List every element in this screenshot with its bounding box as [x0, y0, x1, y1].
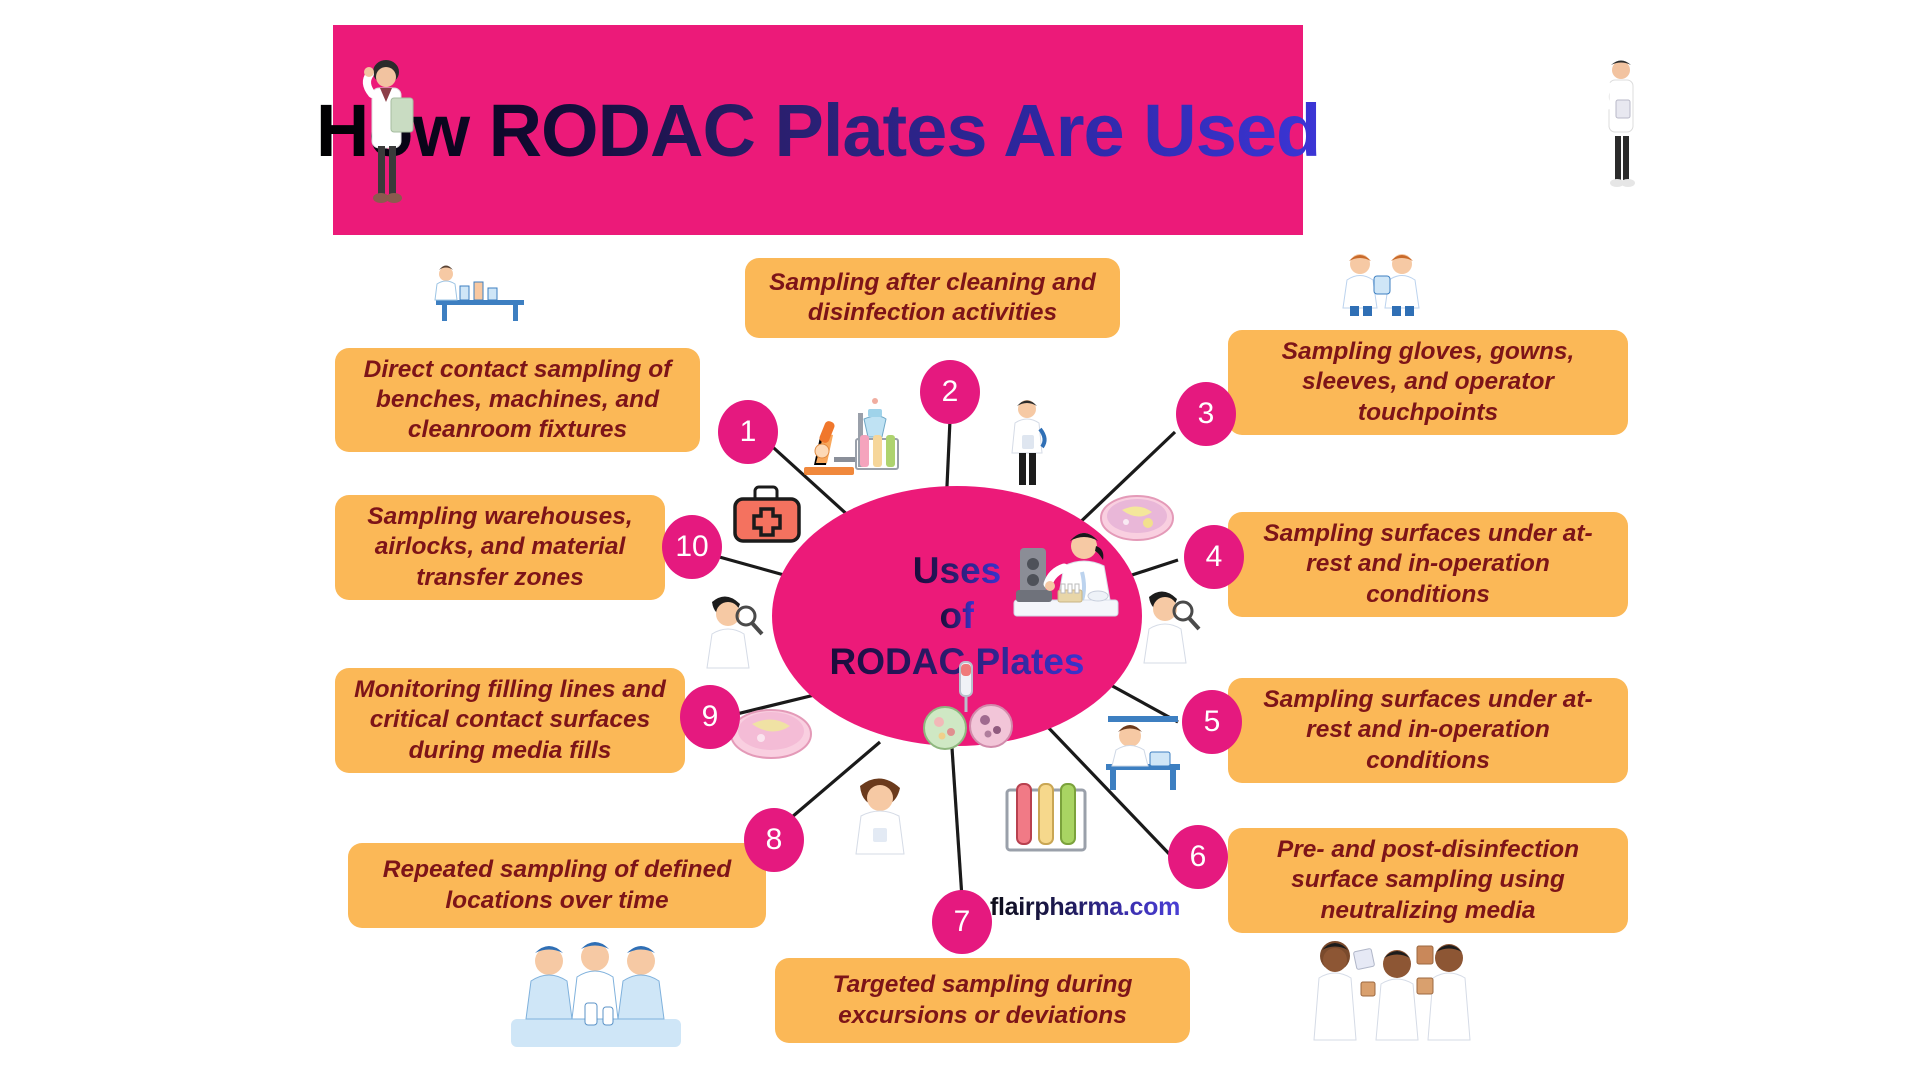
node-card-5[interactable]: Sampling surfaces under at-rest and in-o…	[1228, 678, 1628, 783]
node-card-6[interactable]: Pre- and post-disinfection surface sampl…	[1228, 828, 1628, 933]
center-line-1: Uses	[913, 548, 1001, 593]
node-card-1[interactable]: Direct contact sampling of benches, mach…	[335, 348, 700, 452]
center-line-2: of	[940, 593, 975, 638]
node-card-2[interactable]: Sampling after cleaning and disinfection…	[745, 258, 1120, 338]
node-card-9[interactable]: Monitoring filling lines and critical co…	[335, 668, 685, 773]
node-number-7[interactable]: 7	[932, 890, 992, 954]
node-number-1[interactable]: 1	[718, 400, 778, 464]
node-card-8[interactable]: Repeated sampling of defined locations o…	[348, 843, 766, 928]
node-number-8[interactable]: 8	[744, 808, 804, 872]
node-number-6[interactable]: 6	[1168, 825, 1228, 889]
scientist-magnifier-right-icon	[1135, 585, 1205, 665]
node-number-2[interactable]: 2	[920, 360, 980, 424]
lab-technician-microscope-icon	[1000, 520, 1130, 630]
scientist-at-desk-icon	[1100, 706, 1186, 792]
scientist-magnifier-left-icon	[698, 590, 768, 670]
first-aid-kit-icon	[727, 481, 807, 551]
microscope-testtubes-icon	[800, 395, 900, 480]
node-card-4[interactable]: Sampling surfaces under at-rest and in-o…	[1228, 512, 1628, 617]
infographic-canvas: How RODAC Plates Are Used	[0, 0, 1920, 1080]
node-number-4[interactable]: 4	[1184, 525, 1244, 589]
node-card-10[interactable]: Sampling warehouses, airlocks, and mater…	[335, 495, 665, 600]
petri-dish-pink-icon	[728, 700, 814, 762]
node-card-3[interactable]: Sampling gloves, gowns, sleeves, and ope…	[1228, 330, 1628, 435]
team-samples-icon	[1305, 930, 1485, 1045]
test-tubes-rack-icon	[1003, 782, 1089, 858]
team-lab-icon	[505, 935, 685, 1053]
node-number-5[interactable]: 5	[1182, 690, 1242, 754]
lab-bench-scientist-icon	[430, 252, 530, 324]
pipette-petri-dishes-icon	[918, 660, 1018, 750]
node-card-7[interactable]: Targeted sampling during excursions or d…	[775, 958, 1190, 1043]
girl-scientist-icon	[845, 770, 915, 856]
node-number-9[interactable]: 9	[680, 685, 740, 749]
node-number-10[interactable]: 10	[662, 515, 722, 579]
two-scientists-icon	[1330, 248, 1434, 320]
node-number-3[interactable]: 3	[1176, 382, 1236, 446]
standing-scientist-icon	[1000, 395, 1054, 487]
site-watermark: flairpharma.com	[990, 893, 1180, 922]
